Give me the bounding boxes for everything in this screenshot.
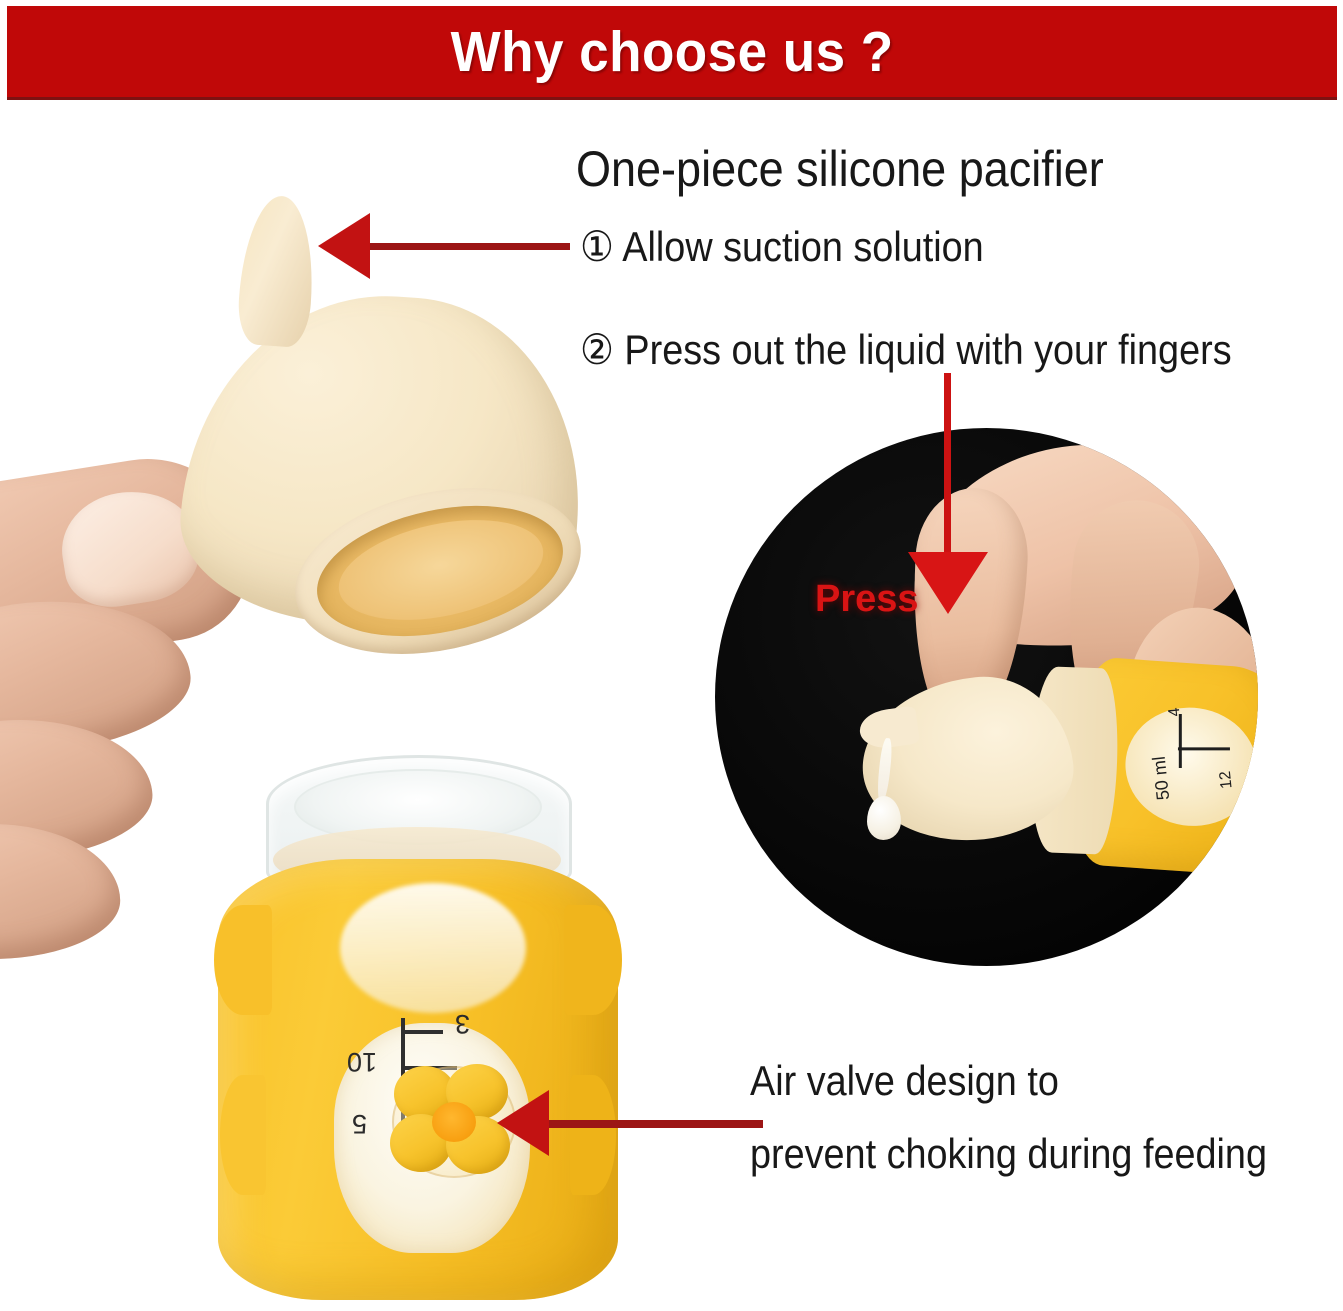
arrow-press-shaft xyxy=(944,373,951,563)
sleeve-waist-right xyxy=(570,1075,616,1195)
arrow-to-pacifier-shaft xyxy=(368,243,570,250)
air-valve-feature-line-1: Air valve design to xyxy=(750,1057,1059,1105)
press-label: Press xyxy=(815,578,919,621)
scale-label-5: 5 xyxy=(352,1108,367,1139)
step-1-text: ① Allow suction solution xyxy=(580,222,984,271)
baby-feeding-bottle xyxy=(218,755,618,1300)
milk-droplet xyxy=(867,796,901,840)
sleeve-shoulder-left xyxy=(214,905,272,1015)
air-valve-feature-line-2: prevent choking during feeding xyxy=(750,1130,1267,1178)
page-title: Why choose us ? xyxy=(451,19,894,85)
scale-label-3: 3 xyxy=(455,1008,470,1039)
inset-scale-label-12: 12 xyxy=(1217,770,1237,790)
headline-text: One-piece silicone pacifier xyxy=(576,140,1104,198)
valve-center xyxy=(432,1102,476,1142)
inset-scale-label-4: 4 xyxy=(1166,707,1185,718)
silicone-pacifier xyxy=(185,196,585,666)
pacifier-tip xyxy=(236,194,318,349)
inset-scale-tick-horizontal xyxy=(1178,747,1230,750)
infographic-page: Why choose us ? One-piece silicone pacif… xyxy=(0,0,1343,1311)
arrow-to-air-valve-icon xyxy=(497,1090,549,1156)
header-banner: Why choose us ? xyxy=(7,6,1337,100)
scale-label-10: 10 xyxy=(347,1046,377,1077)
arrow-press-down-icon xyxy=(908,552,988,614)
press-demo-circle: 50 ml 12 4 Press xyxy=(715,428,1258,966)
arrow-to-pacifier-icon xyxy=(318,213,370,279)
inset-scale-label-50ml: 50 ml xyxy=(1149,755,1174,801)
bottle-highlight xyxy=(340,883,526,1013)
sleeve-waist-left xyxy=(220,1075,266,1195)
arrow-to-air-valve-shaft xyxy=(549,1120,763,1128)
scale-tick-top xyxy=(401,1030,443,1034)
inset-scale-tick-vertical xyxy=(1179,714,1182,768)
sleeve-shoulder-right xyxy=(564,905,622,1015)
step-2-text: ② Press out the liquid with your fingers xyxy=(580,325,1232,374)
